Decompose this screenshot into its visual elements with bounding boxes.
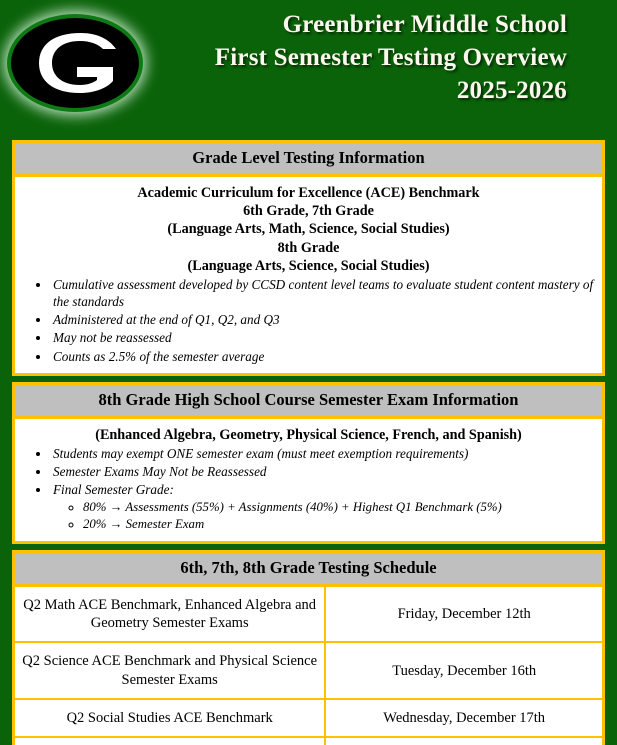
section-heading-grade-level: Grade Level Testing Information [15,143,602,177]
hs-semester-bullet-list: Students may exempt ONE semester exam (m… [21,445,596,533]
letter-g-icon [11,18,139,108]
list-item: Counts as 2.5% of the semester average [51,348,596,365]
schedule-date-cell: Friday, December 12th [325,587,602,642]
section-testing-schedule: 6th, 7th, 8th Grade Testing Schedule Q2 … [12,550,605,745]
grade-8-label: 8th Grade [21,239,596,257]
schedule-date-cell: Tuesday, December 16th [325,642,602,698]
header-title-block: Greenbrier Middle School First Semester … [150,0,617,107]
school-logo [0,0,150,125]
ace-benchmark-info: Academic Curriculum for Excellence (ACE)… [21,184,596,275]
list-item: Semester Exams May Not be Reassessed [51,463,596,480]
table-row: Q2 Social Studies ACE Benchmark Wednesda… [15,699,602,737]
document-title: First Semester Testing Overview [150,41,567,74]
section-grade-level-testing: Grade Level Testing Information Academic… [12,140,605,376]
schedule-assessment-cell: Q2 ELA ACE Benchmark, Spanish and French… [15,737,325,745]
flyer-page: Greenbrier Middle School First Semester … [0,0,617,745]
schedule-assessment-cell: Q2 Math ACE Benchmark, Enhanced Algebra … [15,587,325,642]
list-item: Administered at the end of Q1, Q2, and Q… [51,311,596,328]
list-item: 20% → Semester Exam [83,516,596,533]
logo-oval-shape [11,18,139,108]
schedule-date-cell: Thursday, December 18th [325,737,602,745]
table-row: Q2 Science ACE Benchmark and Physical Sc… [15,642,602,698]
final-semester-grade-label: Final Semester Grade: [53,482,174,497]
final-grade-breakdown-list: 80% → Assessments (55%) + Assignments (4… [53,499,596,534]
testing-schedule-table: Q2 Math ACE Benchmark, Enhanced Algebra … [15,587,602,745]
list-item: Final Semester Grade: 80% → Assessments … [51,481,596,533]
list-item: Cumulative assessment developed by CCSD … [51,276,596,310]
grade-level-bullet-list: Cumulative assessment developed by CCSD … [21,276,596,365]
list-item: May not be reassessed [51,329,596,346]
section-body-hs-semester-exam: (Enhanced Algebra, Geometry, Physical Sc… [15,419,602,541]
schedule-assessment-cell: Q2 Social Studies ACE Benchmark [15,699,325,737]
section-body-testing-schedule: Q2 Math ACE Benchmark, Enhanced Algebra … [15,587,602,745]
hs-course-subjects: (Enhanced Algebra, Geometry, Physical Sc… [21,426,596,444]
school-name: Greenbrier Middle School [150,8,567,41]
page-content: Grade Level Testing Information Academic… [0,140,617,745]
grades-6-7-label: 6th Grade, 7th Grade [21,202,596,220]
page-header: Greenbrier Middle School First Semester … [0,0,617,140]
schedule-date-cell: Wednesday, December 17th [325,699,602,737]
section-heading-testing-schedule: 6th, 7th, 8th Grade Testing Schedule [15,553,602,587]
list-item: Students may exempt ONE semester exam (m… [51,445,596,462]
schedule-assessment-cell: Q2 Science ACE Benchmark and Physical Sc… [15,642,325,698]
section-heading-hs-semester-exam: 8th Grade High School Course Semester Ex… [15,385,602,419]
section-body-grade-level: Academic Curriculum for Excellence (ACE)… [15,177,602,373]
list-item: 80% → Assessments (55%) + Assignments (4… [83,499,596,516]
hs-course-list: (Enhanced Algebra, Geometry, Physical Sc… [21,426,596,444]
grades-6-7-subjects: (Language Arts, Math, Science, Social St… [21,220,596,238]
table-row: Q2 ELA ACE Benchmark, Spanish and French… [15,737,602,745]
ace-benchmark-title: Academic Curriculum for Excellence (ACE)… [21,184,596,202]
table-row: Q2 Math ACE Benchmark, Enhanced Algebra … [15,587,602,642]
grade-8-subjects: (Language Arts, Science, Social Studies) [21,257,596,275]
school-year: 2025-2026 [150,74,567,107]
section-hs-course-semester-exam: 8th Grade High School Course Semester Ex… [12,382,605,544]
